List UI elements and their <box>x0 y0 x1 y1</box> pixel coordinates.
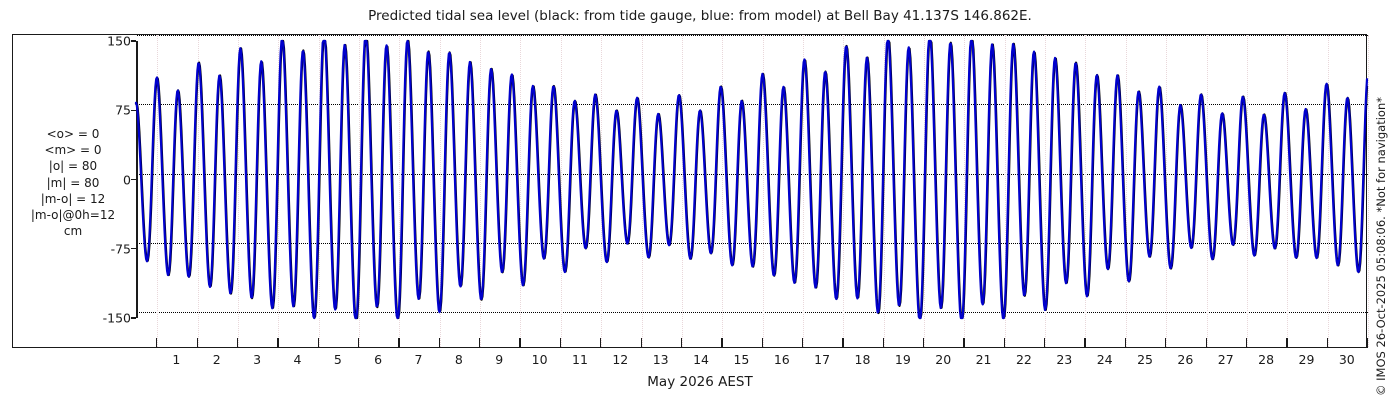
x-axis-tick-label: 2 <box>213 352 221 367</box>
x-axis-tick-label: 20 <box>935 352 951 367</box>
x-axis-tick-label: 11 <box>572 352 588 367</box>
x-axis-tick-mark <box>721 338 722 348</box>
x-axis-tick-mark <box>963 338 964 348</box>
statistics-line: |m-o|@0h=12 <box>14 207 132 223</box>
x-axis-tick-mark <box>681 338 682 348</box>
x-axis-tick-label: 23 <box>1056 352 1072 367</box>
x-axis-tick-label: 27 <box>1218 352 1234 367</box>
horizontal-gridline <box>137 35 1368 36</box>
tidal-chart-figure: Predicted tidal sea level (black: from t… <box>0 0 1400 400</box>
x-axis-tick-label: 29 <box>1299 352 1315 367</box>
x-axis-tick-mark <box>277 338 278 348</box>
y-axis-tick-label: 150 <box>107 34 131 49</box>
y-axis-tick-label: -75 <box>111 241 131 256</box>
x-axis-tick-label: 10 <box>532 352 548 367</box>
y-axis-tick-mark <box>131 317 136 318</box>
x-axis-tick-label: 22 <box>1016 352 1032 367</box>
x-axis-tick-mark <box>156 338 157 348</box>
x-axis-tick-label: 4 <box>293 352 301 367</box>
y-axis-tick-mark <box>131 110 136 111</box>
y-axis-tick-mark <box>131 40 136 41</box>
x-axis-tick-label: 15 <box>733 352 749 367</box>
plot-area <box>136 41 1367 318</box>
x-axis-tick-mark <box>358 338 359 348</box>
x-axis-tick-mark <box>479 338 480 348</box>
x-axis-tick-label: 1 <box>172 352 180 367</box>
x-axis-tick-label: 28 <box>1258 352 1274 367</box>
statistics-line: |m-o| = 12 <box>14 191 132 207</box>
x-axis-tick-mark <box>762 338 763 348</box>
x-axis-tick-mark <box>1327 338 1328 348</box>
tide-series-svg <box>136 41 1367 318</box>
x-axis-tick-mark <box>923 338 924 348</box>
x-axis-tick-label: 14 <box>693 352 709 367</box>
x-axis-tick-label: 16 <box>774 352 790 367</box>
x-axis-tick-mark <box>1044 338 1045 348</box>
y-axis-tick-mark <box>131 179 136 180</box>
x-axis-tick-mark <box>641 338 642 348</box>
series-line-model <box>136 41 1367 318</box>
x-axis-tick-mark <box>1246 338 1247 348</box>
x-axis-tick-label: 30 <box>1339 352 1355 367</box>
x-axis-tick-mark <box>398 338 399 348</box>
x-axis-tick-label: 19 <box>895 352 911 367</box>
statistics-line: <m> = 0 <box>14 142 132 158</box>
x-axis-tick-label: 17 <box>814 352 830 367</box>
x-axis-tick-labels: 1234567891011121314151617181920212223242… <box>136 352 1367 372</box>
y-axis-tick-mark <box>131 248 136 249</box>
vertical-gridline <box>1368 35 1369 347</box>
x-axis-tick-mark <box>519 338 520 348</box>
x-axis-tick-mark <box>1004 338 1005 348</box>
x-axis-tick-mark <box>842 338 843 348</box>
y-axis-tick-label: -150 <box>103 311 131 326</box>
x-axis-tick-label: 8 <box>455 352 463 367</box>
y-axis-tick-label: 75 <box>115 103 131 118</box>
x-axis-tick-mark <box>1286 338 1287 348</box>
x-axis-tick-label: 6 <box>374 352 382 367</box>
statistics-line: |o| = 80 <box>14 158 132 174</box>
x-axis-tick-mark <box>802 338 803 348</box>
x-axis-tick-mark <box>600 338 601 348</box>
x-axis-tick-mark <box>1206 338 1207 348</box>
statistics-line: |m| = 80 <box>14 175 132 191</box>
statistics-line: <o> = 0 <box>14 126 132 142</box>
x-axis-tick-mark <box>1367 338 1368 348</box>
x-axis-tick-mark <box>1165 338 1166 348</box>
x-axis-tick-label: 9 <box>495 352 503 367</box>
x-axis-tick-label: 18 <box>855 352 871 367</box>
x-axis-tick-label: 26 <box>1177 352 1193 367</box>
x-axis-tick-mark <box>197 338 198 348</box>
x-axis-tick-mark <box>883 338 884 348</box>
x-axis-tick-mark <box>1084 338 1085 348</box>
x-axis-tick-label: 7 <box>415 352 423 367</box>
copyright-notice: © IMOS 26-Oct-2025 05:08:06. *Not for na… <box>1374 0 1394 396</box>
x-axis-tick-label: 24 <box>1097 352 1113 367</box>
x-axis-tick-label: 21 <box>976 352 992 367</box>
statistics-line: cm <box>14 223 132 239</box>
x-axis-tick-mark <box>237 338 238 348</box>
x-axis-tick-label: 12 <box>612 352 628 367</box>
x-axis-tick-label: 5 <box>334 352 342 367</box>
x-axis-tick-label: 3 <box>253 352 261 367</box>
chart-title: Predicted tidal sea level (black: from t… <box>0 8 1400 24</box>
statistics-block: <o> = 0<m> = 0|o| = 80|m| = 80|m-o| = 12… <box>14 126 132 239</box>
x-axis-tick-mark <box>318 338 319 348</box>
x-axis-tick-mark <box>439 338 440 348</box>
x-axis-tick-mark <box>560 338 561 348</box>
x-axis-tick-mark <box>1125 338 1126 348</box>
x-axis-tick-label: 25 <box>1137 352 1153 367</box>
x-axis-tick-label: 13 <box>653 352 669 367</box>
x-axis-title: May 2026 AEST <box>0 374 1400 390</box>
